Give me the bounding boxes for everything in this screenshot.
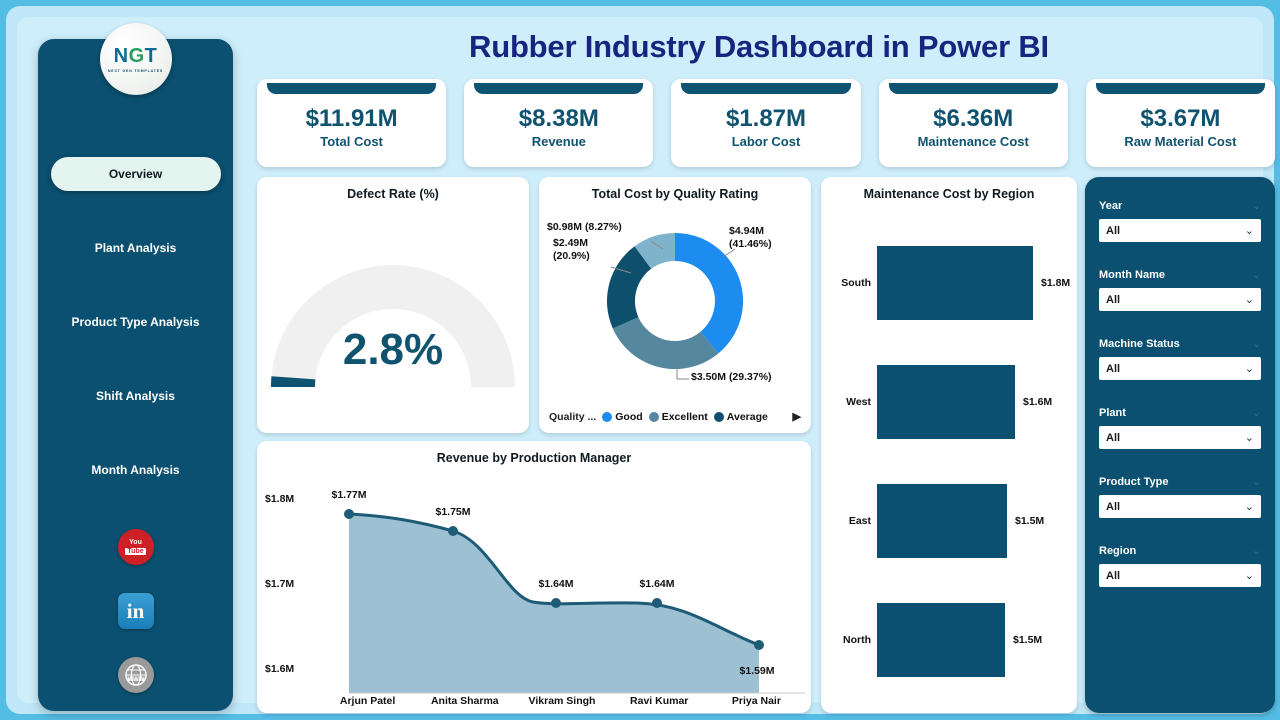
chevron-down-icon[interactable]: ⌄ <box>1252 406 1261 419</box>
filter-value: All <box>1106 363 1120 375</box>
social-links: You Tube in WWW <box>38 529 233 693</box>
filter-label: Product Type <box>1099 476 1168 488</box>
kpi-accent-bar <box>1096 83 1265 94</box>
sidebar-item-overview[interactable]: Overview <box>51 157 221 191</box>
legend-next-arrow-icon[interactable]: ▶ <box>793 410 801 423</box>
filter-label: Year <box>1099 200 1122 212</box>
filter-header: Product Type ⌄ <box>1099 475 1261 488</box>
donut-slice-excellent <box>613 317 719 369</box>
chevron-down-icon[interactable]: ⌄ <box>1252 199 1261 212</box>
kpi-value: $3.67M <box>1140 106 1220 132</box>
filter-header: Plant ⌄ <box>1099 406 1261 419</box>
kpi-card-labor-cost[interactable]: $1.87M Labor Cost <box>671 79 860 167</box>
defect-rate-gauge-card[interactable]: Defect Rate (%) 2.8% <box>257 177 529 433</box>
legend-swatch-good <box>602 412 612 422</box>
filter-header: Machine Status ⌄ <box>1099 337 1261 350</box>
x-axis-tick: Anita Sharma <box>416 695 513 707</box>
donut-label-excellent: $3.50M (29.37%) <box>691 371 772 383</box>
region-label: South <box>821 277 877 289</box>
legend-label-excellent: Excellent <box>662 411 708 423</box>
brand-logo-text: NGT <box>114 46 158 66</box>
x-axis-tick: Priya Nair <box>708 695 805 707</box>
kpi-accent-bar <box>681 83 850 94</box>
filter-header: Year ⌄ <box>1099 199 1261 212</box>
kpi-accent-bar <box>267 83 436 94</box>
chevron-down-icon: ⌄ <box>1245 569 1254 582</box>
defect-rate-gauge-svg <box>257 203 529 423</box>
filter-dropdown-plant[interactable]: All ⌄ <box>1099 426 1261 449</box>
region-row-south[interactable]: South $1.8M <box>821 223 1077 342</box>
kpi-card-total-cost[interactable]: $11.91M Total Cost <box>257 79 446 167</box>
legend-item-good[interactable]: Good <box>602 411 642 423</box>
sidebar-item-shift-analysis[interactable]: Shift Analysis <box>51 379 221 413</box>
legend-swatch-excellent <box>649 412 659 422</box>
filter-dropdown-machine-status[interactable]: All ⌄ <box>1099 357 1261 380</box>
quality-donut-title: Total Cost by Quality Rating <box>539 177 811 201</box>
region-chart-title: Maintenance Cost by Region <box>821 177 1077 201</box>
filter-dropdown-product-type[interactable]: All ⌄ <box>1099 495 1261 518</box>
report-canvas: NGT NEXT GEN TEMPLATES Overview Plant An… <box>17 17 1263 703</box>
chevron-down-icon: ⌄ <box>1245 362 1254 375</box>
region-value: $1.8M <box>1041 277 1070 289</box>
filter-label: Month Name <box>1099 269 1165 281</box>
x-axis-tick: Ravi Kumar <box>611 695 708 707</box>
region-value: $1.6M <box>1023 396 1052 408</box>
region-label: North <box>821 634 877 646</box>
page-title: Rubber Industry Dashboard in Power BI <box>249 29 1269 65</box>
kpi-accent-bar <box>474 83 643 94</box>
data-label-priya-nair: $1.59M <box>739 665 774 677</box>
filter-panel: Year ⌄ All ⌄ Month Name ⌄ All ⌄ <box>1085 177 1275 713</box>
region-value: $1.5M <box>1013 634 1042 646</box>
data-label-arjun-patel: $1.77M <box>331 489 366 501</box>
filter-label: Plant <box>1099 407 1126 419</box>
region-label: West <box>821 396 877 408</box>
chevron-down-icon[interactable]: ⌄ <box>1252 268 1261 281</box>
defect-rate-value: 2.8% <box>257 325 529 375</box>
frame-inner-border: NGT NEXT GEN TEMPLATES Overview Plant An… <box>6 6 1274 714</box>
defect-rate-title: Defect Rate (%) <box>257 177 529 201</box>
website-globe-icon[interactable]: WWW <box>118 657 154 693</box>
revenue-by-production-manager-card[interactable]: Revenue by Production Manager $1.8M $1.7… <box>257 441 811 713</box>
kpi-label: Revenue <box>532 134 586 149</box>
filter-label: Region <box>1099 545 1136 557</box>
kpi-value: $11.91M <box>306 106 398 132</box>
chevron-down-icon: ⌄ <box>1245 431 1254 444</box>
data-label-anita-sharma: $1.75M <box>435 506 470 518</box>
kpi-value: $1.87M <box>726 106 806 132</box>
legend-item-average[interactable]: Average <box>714 411 768 423</box>
youtube-icon-line2: Tube <box>125 548 145 555</box>
sidebar-item-product-type-analysis[interactable]: Product Type Analysis <box>51 305 221 339</box>
revenue-area-svg <box>257 469 811 713</box>
revenue-x-axis-labels: Arjun Patel Anita Sharma Vikram Singh Ra… <box>319 695 805 707</box>
chevron-down-icon[interactable]: ⌄ <box>1252 337 1261 350</box>
brand-logo-subtext: NEXT GEN TEMPLATES <box>108 69 163 73</box>
sidebar-nav: Overview Plant Analysis Product Type Ana… <box>38 157 233 527</box>
filter-label: Machine Status <box>1099 338 1180 350</box>
kpi-label: Labor Cost <box>732 134 801 149</box>
kpi-card-maintenance-cost[interactable]: $6.36M Maintenance Cost <box>879 79 1068 167</box>
filter-value: All <box>1106 432 1120 444</box>
legend-caption: Quality ... <box>549 411 596 423</box>
kpi-card-raw-material-cost[interactable]: $3.67M Raw Material Cost <box>1086 79 1275 167</box>
chevron-down-icon: ⌄ <box>1245 293 1254 306</box>
donut-label-average-line1: $2.49M <box>553 237 590 250</box>
legend-swatch-average <box>714 412 724 422</box>
donut-label-average-line2: (20.9%) <box>553 250 590 263</box>
filter-value: All <box>1106 294 1120 306</box>
filter-value: All <box>1106 225 1120 237</box>
svg-text:WWW: WWW <box>127 677 144 683</box>
youtube-icon[interactable]: You Tube <box>118 529 154 565</box>
region-bar <box>877 603 1005 677</box>
filter-month-name: Month Name ⌄ All ⌄ <box>1099 268 1261 311</box>
filter-value: All <box>1106 501 1120 513</box>
legend-label-average: Average <box>727 411 768 423</box>
region-bar <box>877 484 1007 558</box>
quality-donut-legend: Quality ... Good Excellent Average ▶ <box>549 410 801 423</box>
filter-dropdown-year[interactable]: All ⌄ <box>1099 219 1261 242</box>
filter-machine-status: Machine Status ⌄ All ⌄ <box>1099 337 1261 380</box>
donut-label-good-line1: $4.94M <box>729 225 772 238</box>
filter-header: Month Name ⌄ <box>1099 268 1261 281</box>
sidebar: NGT NEXT GEN TEMPLATES Overview Plant An… <box>38 39 233 711</box>
kpi-accent-bar <box>889 83 1058 94</box>
window-frame: NGT NEXT GEN TEMPLATES Overview Plant An… <box>0 0 1280 720</box>
linkedin-icon[interactable]: in <box>118 593 154 629</box>
chevron-down-icon: ⌄ <box>1245 500 1254 513</box>
region-value: $1.5M <box>1015 515 1044 527</box>
maintenance-cost-by-region-card[interactable]: Maintenance Cost by Region South $1.8M W… <box>821 177 1077 713</box>
revenue-chart-title: Revenue by Production Manager <box>257 441 811 465</box>
youtube-icon-line1: You <box>129 539 142 546</box>
filter-product-type: Product Type ⌄ All ⌄ <box>1099 475 1261 518</box>
region-bar <box>877 246 1033 320</box>
x-axis-tick: Vikram Singh <box>513 695 610 707</box>
brand-logo: NGT NEXT GEN TEMPLATES <box>100 23 172 95</box>
linkedin-icon-glyph: in <box>127 599 145 624</box>
chevron-down-icon[interactable]: ⌄ <box>1252 544 1261 557</box>
region-row-east[interactable]: East $1.5M <box>821 461 1077 580</box>
data-label-vikram-singh: $1.64M <box>538 578 573 590</box>
data-label-ravi-kumar: $1.64M <box>639 578 674 590</box>
donut-label-good-line2: (41.46%) <box>729 238 772 251</box>
filter-plant: Plant ⌄ All ⌄ <box>1099 406 1261 449</box>
kpi-label: Maintenance Cost <box>918 134 1029 149</box>
kpi-card-revenue[interactable]: $8.38M Revenue <box>464 79 653 167</box>
filter-region: Region ⌄ All ⌄ <box>1099 544 1261 587</box>
filter-year: Year ⌄ All ⌄ <box>1099 199 1261 242</box>
chevron-down-icon[interactable]: ⌄ <box>1252 475 1261 488</box>
region-label: East <box>821 515 877 527</box>
region-bar <box>877 365 1015 439</box>
filter-dropdown-month-name[interactable]: All ⌄ <box>1099 288 1261 311</box>
region-bar-list: South $1.8M West $1.6M East $1.5M <box>821 223 1077 699</box>
kpi-card-row: $11.91M Total Cost $8.38M Revenue $1.87M… <box>257 79 1275 167</box>
chevron-down-icon: ⌄ <box>1245 224 1254 237</box>
kpi-label: Raw Material Cost <box>1124 134 1236 149</box>
sidebar-item-month-analysis[interactable]: Month Analysis <box>51 453 221 487</box>
filter-dropdown-region[interactable]: All ⌄ <box>1099 564 1261 587</box>
kpi-value: $6.36M <box>933 106 1013 132</box>
legend-item-excellent[interactable]: Excellent <box>649 411 708 423</box>
filter-value: All <box>1106 570 1120 582</box>
sidebar-item-plant-analysis[interactable]: Plant Analysis <box>51 231 221 265</box>
region-row-north[interactable]: North $1.5M <box>821 580 1077 699</box>
total-cost-by-quality-card[interactable]: Total Cost by Quality Rating <box>539 177 811 433</box>
legend-label-good: Good <box>615 411 642 423</box>
revenue-plot-area: $1.8M $1.7M $1.6M $1.77M $1.75M <box>257 469 811 713</box>
region-row-west[interactable]: West $1.6M <box>821 342 1077 461</box>
kpi-label: Total Cost <box>320 134 383 149</box>
kpi-value: $8.38M <box>519 106 599 132</box>
donut-label-fourth: $0.98M (8.27%) <box>547 221 622 233</box>
filter-header: Region ⌄ <box>1099 544 1261 557</box>
x-axis-tick: Arjun Patel <box>319 695 416 707</box>
